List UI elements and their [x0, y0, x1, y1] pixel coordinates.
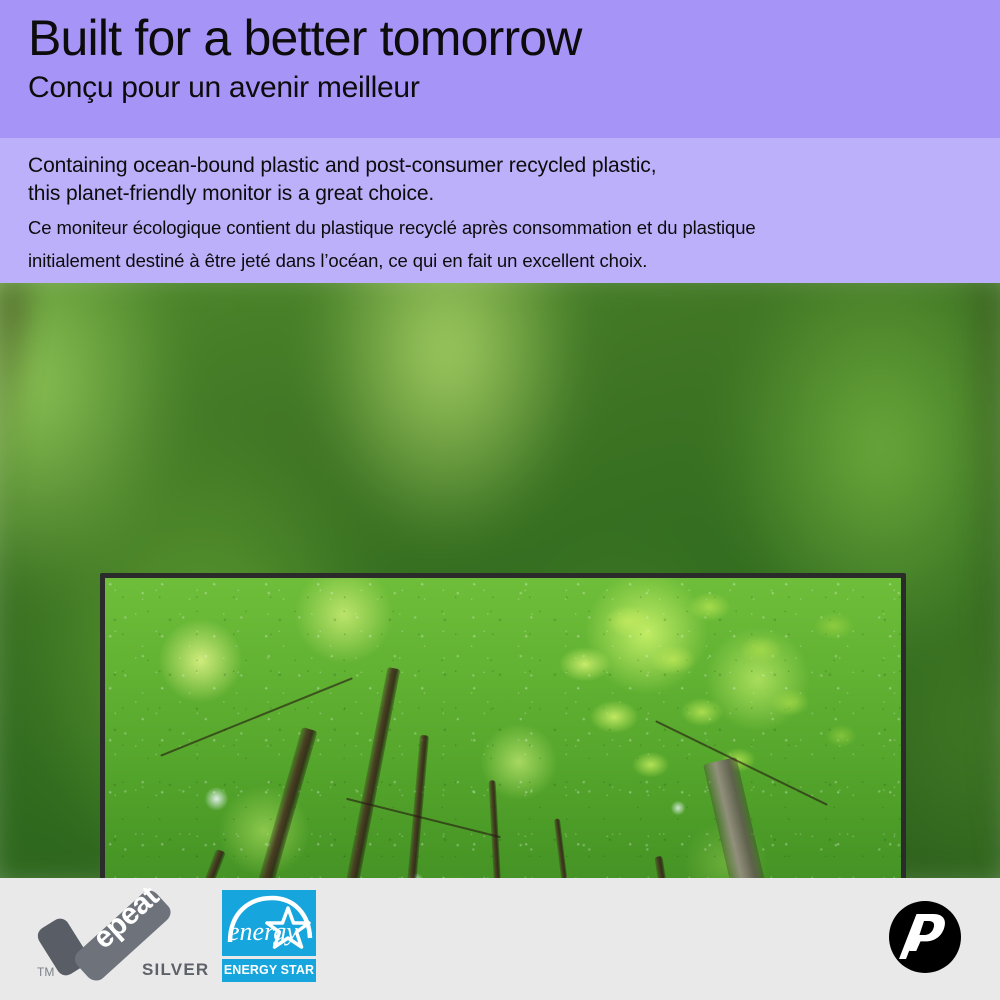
description-fr-line-2: initialement destiné à être jeté dans l’…: [28, 247, 1000, 274]
header-description-band: Containing ocean-bound plastic and post-…: [0, 138, 1000, 283]
screen-wallpaper-leaf-cluster: [519, 583, 885, 822]
epeat-silver-logo: epeat TM SILVER: [34, 888, 214, 984]
description-fr-line-1: Ce moniteur écologique contient du plast…: [28, 214, 1000, 241]
energy-star-wordmark-text: ENERGY STAR: [224, 964, 314, 977]
energy-star-wordmark: ENERGY STAR: [222, 959, 316, 982]
monitor-screen: [105, 578, 901, 878]
page-title-french: Conçu pour un avenir meilleur: [28, 69, 1000, 107]
header-headline-band: Built for a better tomorrow Conçu pour u…: [0, 0, 1000, 138]
svg-text:energy: energy: [228, 917, 298, 946]
monitor-display: 527sa: [100, 573, 906, 878]
hero-product-photo: 527sa: [0, 283, 1000, 878]
description-en-line-2: this planet-friendly monitor is a great …: [28, 180, 1000, 208]
svg-text:TM: TM: [37, 965, 54, 979]
hp-logo-icon: [888, 900, 962, 974]
page-title: Built for a better tomorrow: [28, 10, 1000, 66]
energy-star-logo: energy ENERGY STAR: [222, 890, 316, 982]
certification-footer: epeat TM SILVER energy ENERGY STAR: [0, 878, 1000, 1000]
svg-text:SILVER: SILVER: [142, 960, 209, 979]
product-marketing-image: Built for a better tomorrow Conçu pour u…: [0, 0, 1000, 1000]
energy-star-mark: energy: [222, 890, 316, 956]
description-en-line-1: Containing ocean-bound plastic and post-…: [28, 152, 1000, 180]
